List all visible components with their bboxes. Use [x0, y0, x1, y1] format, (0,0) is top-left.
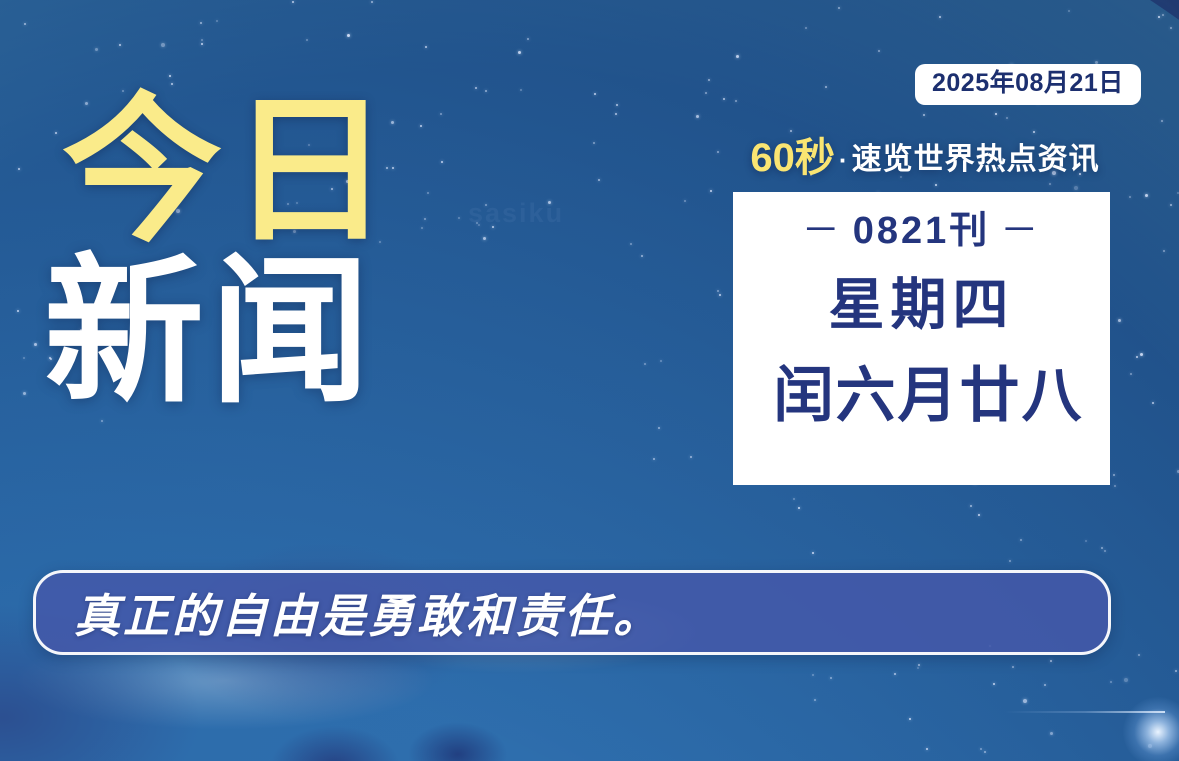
date-badge: 2025年08月21日 — [915, 64, 1141, 105]
tagline: 60秒·速览世界热点资讯 — [735, 138, 1115, 178]
issue-number-row: －0821刊－ — [792, 208, 1052, 256]
news-poster: sasiku 今日 新闻 2025年08月21日 60秒·速览世界热点资讯 －0… — [0, 0, 1179, 761]
page-title-line-1: 今日 — [62, 96, 398, 246]
watermark-text: sasiku — [468, 198, 564, 229]
quote-bar: 真正的自由是勇敢和责任。 — [33, 570, 1111, 655]
tagline-highlight: 60秒 — [750, 136, 835, 180]
page-title-line-2: 新闻 — [44, 256, 398, 408]
issue-dash-left: － — [792, 210, 853, 252]
lens-flare-streak — [1005, 711, 1165, 713]
tagline-text: 速览世界热点资讯 — [852, 143, 1100, 176]
quote-text: 真正的自由是勇敢和责任。 — [74, 580, 662, 646]
poster-title: 今日 新闻 — [62, 96, 398, 408]
lunar-date-label: 闰六月廿八 — [733, 358, 1110, 433]
issue-dash-right: － — [990, 210, 1051, 252]
issue-number: 0821刊 — [853, 210, 991, 252]
info-card: －0821刊－ 星期四 闰六月廿八 — [733, 192, 1110, 485]
tagline-separator: · — [835, 145, 852, 175]
weekday-label: 星期四 — [829, 270, 1015, 340]
